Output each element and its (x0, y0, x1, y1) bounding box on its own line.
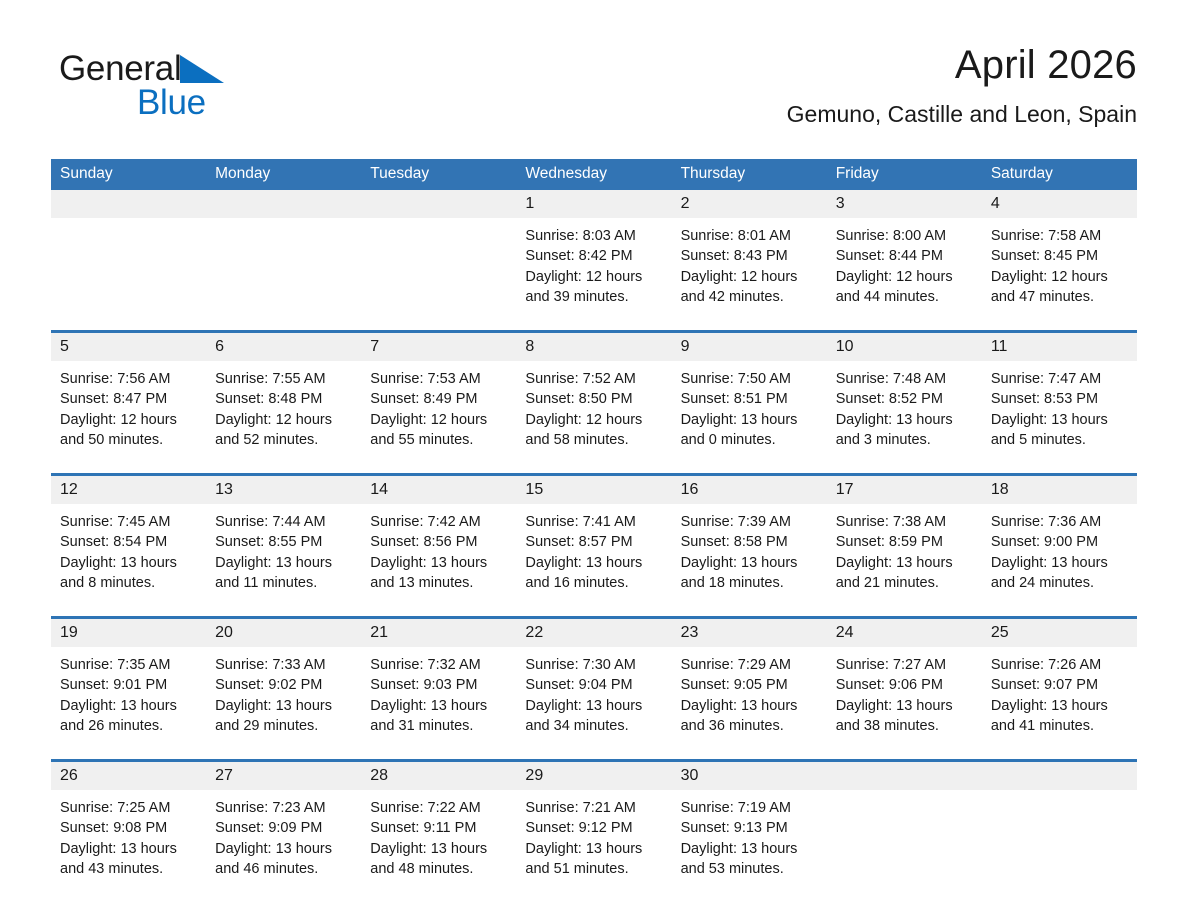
day-cell: Sunrise: 7:41 AM Sunset: 8:57 PM Dayligh… (516, 504, 671, 616)
daylight-text-line2: and 47 minutes. (991, 287, 1127, 307)
day-number: 20 (206, 619, 361, 647)
daylight-text-line1: Daylight: 13 hours (991, 410, 1127, 430)
daylight-text-line2: and 44 minutes. (836, 287, 972, 307)
day-number: 1 (516, 190, 671, 218)
day-cell: Sunrise: 7:44 AM Sunset: 8:55 PM Dayligh… (206, 504, 361, 616)
brand-logo: General Blue (59, 50, 309, 130)
daylight-text-line1: Daylight: 13 hours (215, 553, 351, 573)
day-number (982, 762, 1137, 790)
day-cell: Sunrise: 7:30 AM Sunset: 9:04 PM Dayligh… (516, 647, 671, 759)
daylight-text-line2: and 34 minutes. (525, 716, 661, 736)
daylight-text-line1: Daylight: 13 hours (525, 553, 661, 573)
sunrise-text: Sunrise: 7:19 AM (681, 798, 817, 818)
day-number: 6 (206, 333, 361, 361)
day-number: 23 (672, 619, 827, 647)
daylight-text-line1: Daylight: 13 hours (60, 553, 196, 573)
sunrise-text: Sunrise: 7:58 AM (991, 226, 1127, 246)
day-number: 4 (982, 190, 1137, 218)
sunset-text: Sunset: 8:44 PM (836, 246, 972, 266)
daylight-text-line1: Daylight: 13 hours (836, 553, 972, 573)
daylight-text-line2: and 43 minutes. (60, 859, 196, 879)
daylight-text-line1: Daylight: 13 hours (215, 839, 351, 859)
week-detail-row: Sunrise: 7:56 AM Sunset: 8:47 PM Dayligh… (51, 361, 1137, 473)
daylight-text-line1: Daylight: 12 hours (215, 410, 351, 430)
weekday-header-tuesday: Tuesday (361, 159, 516, 190)
day-number: 13 (206, 476, 361, 504)
daylight-text-line1: Daylight: 13 hours (370, 839, 506, 859)
page-header: General Blue April 2026 Gemuno, Castille… (51, 40, 1137, 150)
sunrise-text: Sunrise: 7:50 AM (681, 369, 817, 389)
day-number: 17 (827, 476, 982, 504)
daylight-text-line1: Daylight: 12 hours (681, 267, 817, 287)
day-cell: Sunrise: 8:00 AM Sunset: 8:44 PM Dayligh… (827, 218, 982, 330)
daylight-text-line1: Daylight: 13 hours (525, 696, 661, 716)
day-number: 29 (516, 762, 671, 790)
daylight-text-line1: Daylight: 12 hours (370, 410, 506, 430)
sunrise-text: Sunrise: 7:45 AM (60, 512, 196, 532)
day-number: 5 (51, 333, 206, 361)
day-cell: Sunrise: 7:27 AM Sunset: 9:06 PM Dayligh… (827, 647, 982, 759)
week-daynum-row: 26 27 28 29 30 (51, 762, 1137, 790)
week-detail-row: Sunrise: 8:03 AM Sunset: 8:42 PM Dayligh… (51, 218, 1137, 330)
daylight-text-line1: Daylight: 13 hours (370, 553, 506, 573)
day-cell: Sunrise: 7:58 AM Sunset: 8:45 PM Dayligh… (982, 218, 1137, 330)
day-cell: Sunrise: 7:22 AM Sunset: 9:11 PM Dayligh… (361, 790, 516, 902)
daylight-text-line2: and 50 minutes. (60, 430, 196, 450)
week-daynum-row: 12 13 14 15 16 17 18 (51, 476, 1137, 504)
sunrise-text: Sunrise: 7:30 AM (525, 655, 661, 675)
day-number: 18 (982, 476, 1137, 504)
sunrise-text: Sunrise: 7:42 AM (370, 512, 506, 532)
sunrise-text: Sunrise: 7:36 AM (991, 512, 1127, 532)
daylight-text-line2: and 38 minutes. (836, 716, 972, 736)
day-cell: Sunrise: 7:33 AM Sunset: 9:02 PM Dayligh… (206, 647, 361, 759)
day-cell (361, 218, 516, 330)
daylight-text-line1: Daylight: 13 hours (60, 696, 196, 716)
day-number: 26 (51, 762, 206, 790)
daylight-text-line1: Daylight: 13 hours (681, 696, 817, 716)
day-cell: Sunrise: 8:01 AM Sunset: 8:43 PM Dayligh… (672, 218, 827, 330)
day-cell: Sunrise: 7:53 AM Sunset: 8:49 PM Dayligh… (361, 361, 516, 473)
sunset-text: Sunset: 8:55 PM (215, 532, 351, 552)
week-detail-row: Sunrise: 7:35 AM Sunset: 9:01 PM Dayligh… (51, 647, 1137, 759)
daylight-text-line1: Daylight: 12 hours (525, 267, 661, 287)
sunrise-text: Sunrise: 7:48 AM (836, 369, 972, 389)
day-cell: Sunrise: 7:23 AM Sunset: 9:09 PM Dayligh… (206, 790, 361, 902)
daylight-text-line2: and 58 minutes. (525, 430, 661, 450)
calendar-page: General Blue April 2026 Gemuno, Castille… (0, 0, 1188, 918)
daylight-text-line2: and 0 minutes. (681, 430, 817, 450)
day-number (361, 190, 516, 218)
sunset-text: Sunset: 9:04 PM (525, 675, 661, 695)
sunset-text: Sunset: 9:13 PM (681, 818, 817, 838)
sunset-text: Sunset: 9:01 PM (60, 675, 196, 695)
day-cell: Sunrise: 7:29 AM Sunset: 9:05 PM Dayligh… (672, 647, 827, 759)
day-cell: Sunrise: 7:48 AM Sunset: 8:52 PM Dayligh… (827, 361, 982, 473)
sunrise-text: Sunrise: 7:27 AM (836, 655, 972, 675)
sunrise-text: Sunrise: 7:52 AM (525, 369, 661, 389)
sunset-text: Sunset: 8:57 PM (525, 532, 661, 552)
daylight-text-line2: and 39 minutes. (525, 287, 661, 307)
day-cell: Sunrise: 7:55 AM Sunset: 8:48 PM Dayligh… (206, 361, 361, 473)
week-daynum-row: 19 20 21 22 23 24 25 (51, 619, 1137, 647)
day-cell: Sunrise: 7:26 AM Sunset: 9:07 PM Dayligh… (982, 647, 1137, 759)
daylight-text-line2: and 42 minutes. (681, 287, 817, 307)
sunset-text: Sunset: 8:52 PM (836, 389, 972, 409)
sunset-text: Sunset: 8:42 PM (525, 246, 661, 266)
daylight-text-line2: and 21 minutes. (836, 573, 972, 593)
daylight-text-line2: and 24 minutes. (991, 573, 1127, 593)
day-number: 7 (361, 333, 516, 361)
sunrise-text: Sunrise: 7:26 AM (991, 655, 1127, 675)
day-number: 11 (982, 333, 1137, 361)
day-number: 2 (672, 190, 827, 218)
sunrise-text: Sunrise: 7:33 AM (215, 655, 351, 675)
day-cell: Sunrise: 7:47 AM Sunset: 8:53 PM Dayligh… (982, 361, 1137, 473)
daylight-text-line1: Daylight: 13 hours (991, 696, 1127, 716)
daylight-text-line2: and 48 minutes. (370, 859, 506, 879)
day-cell: Sunrise: 7:19 AM Sunset: 9:13 PM Dayligh… (672, 790, 827, 902)
day-cell: Sunrise: 8:03 AM Sunset: 8:42 PM Dayligh… (516, 218, 671, 330)
sunrise-text: Sunrise: 7:44 AM (215, 512, 351, 532)
day-number: 24 (827, 619, 982, 647)
daylight-text-line2: and 29 minutes. (215, 716, 351, 736)
sunrise-text: Sunrise: 8:01 AM (681, 226, 817, 246)
day-number: 9 (672, 333, 827, 361)
sunset-text: Sunset: 9:06 PM (836, 675, 972, 695)
daylight-text-line2: and 11 minutes. (215, 573, 351, 593)
day-number: 27 (206, 762, 361, 790)
brand-name-blue: Blue (137, 84, 206, 122)
daylight-text-line2: and 18 minutes. (681, 573, 817, 593)
day-number (51, 190, 206, 218)
sunset-text: Sunset: 9:03 PM (370, 675, 506, 695)
day-cell: Sunrise: 7:50 AM Sunset: 8:51 PM Dayligh… (672, 361, 827, 473)
sunrise-text: Sunrise: 8:00 AM (836, 226, 972, 246)
daylight-text-line1: Daylight: 12 hours (525, 410, 661, 430)
daylight-text-line1: Daylight: 13 hours (215, 696, 351, 716)
sunset-text: Sunset: 8:53 PM (991, 389, 1127, 409)
sunrise-text: Sunrise: 7:29 AM (681, 655, 817, 675)
daylight-text-line1: Daylight: 13 hours (525, 839, 661, 859)
day-cell: Sunrise: 7:45 AM Sunset: 8:54 PM Dayligh… (51, 504, 206, 616)
daylight-text-line2: and 53 minutes. (681, 859, 817, 879)
calendar-table: Sunday Monday Tuesday Wednesday Thursday… (51, 159, 1137, 902)
sunset-text: Sunset: 9:11 PM (370, 818, 506, 838)
sunrise-text: Sunrise: 7:35 AM (60, 655, 196, 675)
sunrise-text: Sunrise: 7:21 AM (525, 798, 661, 818)
day-cell (982, 790, 1137, 902)
daylight-text-line2: and 36 minutes. (681, 716, 817, 736)
sunrise-text: Sunrise: 7:38 AM (836, 512, 972, 532)
day-cell: Sunrise: 7:52 AM Sunset: 8:50 PM Dayligh… (516, 361, 671, 473)
daylight-text-line2: and 31 minutes. (370, 716, 506, 736)
week-detail-row: Sunrise: 7:25 AM Sunset: 9:08 PM Dayligh… (51, 790, 1137, 902)
sunset-text: Sunset: 9:02 PM (215, 675, 351, 695)
sunset-text: Sunset: 8:49 PM (370, 389, 506, 409)
sunset-text: Sunset: 9:09 PM (215, 818, 351, 838)
sunrise-text: Sunrise: 7:55 AM (215, 369, 351, 389)
sunset-text: Sunset: 8:51 PM (681, 389, 817, 409)
day-number (206, 190, 361, 218)
weekday-header-sunday: Sunday (51, 159, 206, 190)
sunset-text: Sunset: 9:05 PM (681, 675, 817, 695)
page-title: April 2026 (787, 40, 1137, 90)
sunset-text: Sunset: 8:50 PM (525, 389, 661, 409)
day-cell (206, 218, 361, 330)
week-daynum-row: 1 2 3 4 (51, 190, 1137, 218)
sunrise-text: Sunrise: 7:32 AM (370, 655, 506, 675)
sunset-text: Sunset: 8:45 PM (991, 246, 1127, 266)
sunset-text: Sunset: 9:12 PM (525, 818, 661, 838)
daylight-text-line1: Daylight: 13 hours (681, 839, 817, 859)
daylight-text-line1: Daylight: 12 hours (836, 267, 972, 287)
day-number: 16 (672, 476, 827, 504)
daylight-text-line1: Daylight: 12 hours (991, 267, 1127, 287)
day-number: 14 (361, 476, 516, 504)
location-subtitle: Gemuno, Castille and Leon, Spain (787, 98, 1137, 130)
sunset-text: Sunset: 8:56 PM (370, 532, 506, 552)
daylight-text-line2: and 26 minutes. (60, 716, 196, 736)
daylight-text-line2: and 13 minutes. (370, 573, 506, 593)
sunset-text: Sunset: 9:07 PM (991, 675, 1127, 695)
sunset-text: Sunset: 8:48 PM (215, 389, 351, 409)
day-number: 25 (982, 619, 1137, 647)
daylight-text-line2: and 16 minutes. (525, 573, 661, 593)
daylight-text-line1: Daylight: 13 hours (370, 696, 506, 716)
daylight-text-line1: Daylight: 13 hours (991, 553, 1127, 573)
daylight-text-line2: and 52 minutes. (215, 430, 351, 450)
sunset-text: Sunset: 8:43 PM (681, 246, 817, 266)
weekday-header-friday: Friday (827, 159, 982, 190)
weekday-header-monday: Monday (206, 159, 361, 190)
day-cell: Sunrise: 7:36 AM Sunset: 9:00 PM Dayligh… (982, 504, 1137, 616)
day-cell: Sunrise: 7:39 AM Sunset: 8:58 PM Dayligh… (672, 504, 827, 616)
daylight-text-line1: Daylight: 13 hours (836, 696, 972, 716)
sunset-text: Sunset: 8:59 PM (836, 532, 972, 552)
week-detail-row: Sunrise: 7:45 AM Sunset: 8:54 PM Dayligh… (51, 504, 1137, 616)
daylight-text-line2: and 8 minutes. (60, 573, 196, 593)
day-number: 22 (516, 619, 671, 647)
title-block: April 2026 Gemuno, Castille and Leon, Sp… (787, 40, 1137, 130)
weekday-header-wednesday: Wednesday (516, 159, 671, 190)
daylight-text-line1: Daylight: 13 hours (60, 839, 196, 859)
day-cell: Sunrise: 7:42 AM Sunset: 8:56 PM Dayligh… (361, 504, 516, 616)
day-number (827, 762, 982, 790)
day-number: 10 (827, 333, 982, 361)
day-number: 12 (51, 476, 206, 504)
sunset-text: Sunset: 8:58 PM (681, 532, 817, 552)
day-number: 21 (361, 619, 516, 647)
sunrise-text: Sunrise: 7:39 AM (681, 512, 817, 532)
sunrise-text: Sunrise: 7:22 AM (370, 798, 506, 818)
daylight-text-line2: and 41 minutes. (991, 716, 1127, 736)
sunrise-text: Sunrise: 7:25 AM (60, 798, 196, 818)
sunrise-text: Sunrise: 8:03 AM (525, 226, 661, 246)
day-cell: Sunrise: 7:38 AM Sunset: 8:59 PM Dayligh… (827, 504, 982, 616)
sunrise-text: Sunrise: 7:23 AM (215, 798, 351, 818)
sunset-text: Sunset: 8:54 PM (60, 532, 196, 552)
sunrise-text: Sunrise: 7:47 AM (991, 369, 1127, 389)
day-cell: Sunrise: 7:21 AM Sunset: 9:12 PM Dayligh… (516, 790, 671, 902)
daylight-text-line2: and 55 minutes. (370, 430, 506, 450)
daylight-text-line2: and 51 minutes. (525, 859, 661, 879)
day-cell: Sunrise: 7:56 AM Sunset: 8:47 PM Dayligh… (51, 361, 206, 473)
day-cell (827, 790, 982, 902)
sunset-text: Sunset: 9:00 PM (991, 532, 1127, 552)
sunset-text: Sunset: 8:47 PM (60, 389, 196, 409)
sunrise-text: Sunrise: 7:53 AM (370, 369, 506, 389)
calendar-body: 1 2 3 4 Sunrise: 8:03 AM Sunset: 8:42 PM… (51, 190, 1137, 902)
day-number: 15 (516, 476, 671, 504)
day-cell (51, 218, 206, 330)
day-cell: Sunrise: 7:25 AM Sunset: 9:08 PM Dayligh… (51, 790, 206, 902)
day-number: 3 (827, 190, 982, 218)
daylight-text-line2: and 46 minutes. (215, 859, 351, 879)
sunrise-text: Sunrise: 7:56 AM (60, 369, 196, 389)
daylight-text-line1: Daylight: 13 hours (681, 410, 817, 430)
daylight-text-line1: Daylight: 13 hours (681, 553, 817, 573)
sunrise-text: Sunrise: 7:41 AM (525, 512, 661, 532)
sunset-text: Sunset: 9:08 PM (60, 818, 196, 838)
day-number: 28 (361, 762, 516, 790)
weekday-header-thursday: Thursday (672, 159, 827, 190)
day-cell: Sunrise: 7:32 AM Sunset: 9:03 PM Dayligh… (361, 647, 516, 759)
daylight-text-line1: Daylight: 13 hours (836, 410, 972, 430)
day-number: 8 (516, 333, 671, 361)
weekday-header-saturday: Saturday (982, 159, 1137, 190)
day-number: 30 (672, 762, 827, 790)
week-daynum-row: 5 6 7 8 9 10 11 (51, 333, 1137, 361)
day-number: 19 (51, 619, 206, 647)
calendar-header-row: Sunday Monday Tuesday Wednesday Thursday… (51, 159, 1137, 190)
day-cell: Sunrise: 7:35 AM Sunset: 9:01 PM Dayligh… (51, 647, 206, 759)
daylight-text-line1: Daylight: 12 hours (60, 410, 196, 430)
daylight-text-line2: and 3 minutes. (836, 430, 972, 450)
daylight-text-line2: and 5 minutes. (991, 430, 1127, 450)
